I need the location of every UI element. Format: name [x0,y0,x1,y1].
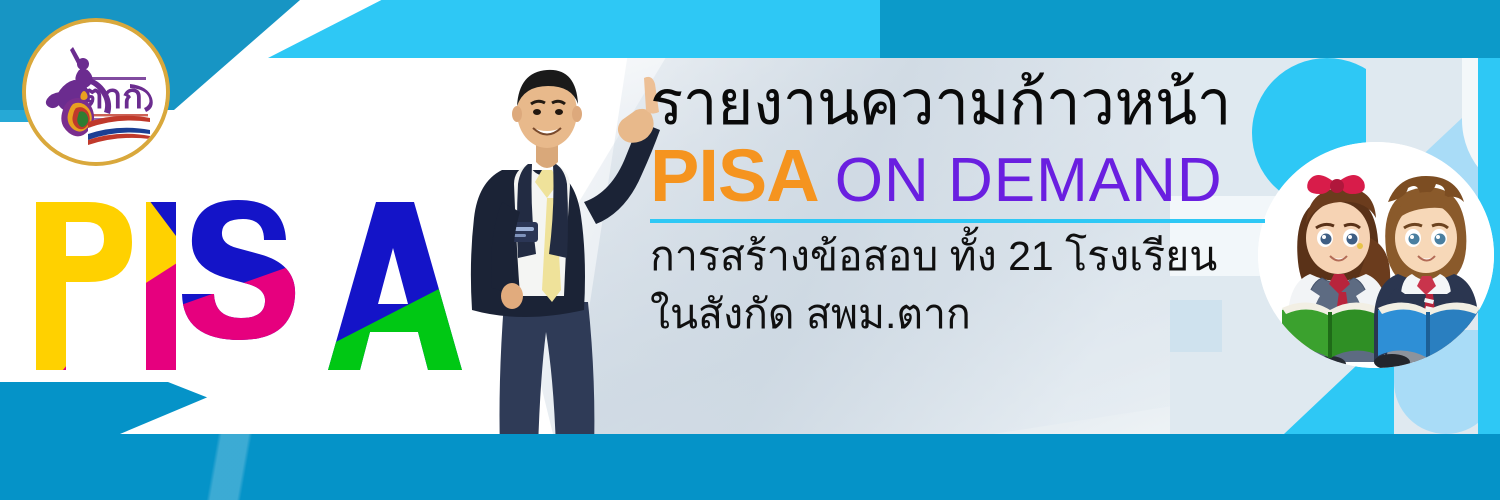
headline-text-block: รายงานความก้าวหน้า PISA ON DEMAND การสร้… [650,72,1280,338]
subtitle-line-1: การสร้างข้อสอบ ทั้ง 21 โรงเรียน [650,233,1280,281]
bottom-diagonal-stripe [52,382,412,500]
page-title: รายงานความก้าวหน้า [650,72,1280,135]
brand-pisa-text: PISA [650,139,819,213]
top-teal-band [880,0,1500,58]
brand-row: PISA ON DEMAND [650,139,1280,213]
students-illustration [1258,142,1494,368]
pisa-on-demand-banner: ตาก [0,0,1500,500]
brand-on-demand-text: ON DEMAND [835,150,1223,212]
subtitle-line-2: ในสังกัด สพม.ตาก [650,291,1280,339]
spm-tak-logo: ตาก [22,18,170,166]
pisa-wordmark [28,196,478,376]
presenter-photo [432,52,682,452]
title-divider-rule [650,219,1265,223]
